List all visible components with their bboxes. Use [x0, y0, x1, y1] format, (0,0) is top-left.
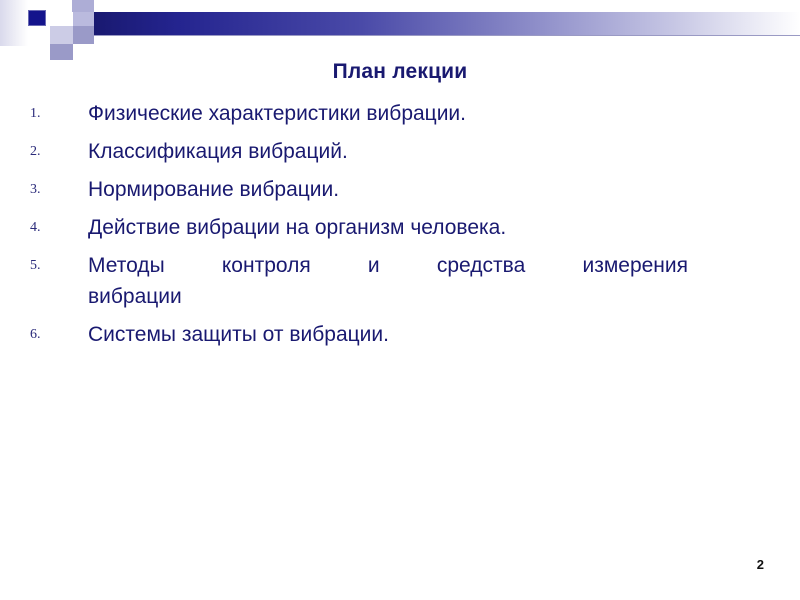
header-decoration [0, 0, 800, 60]
deco-square-pale-mid [50, 26, 73, 44]
list-item: 5. Методы контроля и средства измерения … [26, 250, 746, 312]
list-item-label: Системы защиты от вибрации. [88, 319, 746, 350]
list-item: 4. Действие вибрации на организм человек… [26, 212, 746, 243]
deco-gradient-bar [93, 12, 800, 36]
list-item-number: 1. [26, 98, 88, 129]
list-item-number: 4. [26, 212, 88, 243]
list-item-line-2: вибрации [88, 281, 688, 312]
deco-square-lavender-bottom [50, 44, 73, 60]
list-item: 2. Классификация вибраций. [26, 136, 746, 167]
list-item-number: 2. [26, 136, 88, 167]
list-item: 3. Нормирование вибрации. [26, 174, 746, 205]
deco-square-fade-block [0, 0, 28, 46]
page-number: 2 [757, 557, 764, 572]
list-item-label: Методы контроля и средства измерения виб… [88, 250, 688, 312]
list-item-number: 5. [26, 250, 88, 281]
list-item-label: Действие вибрации на организм человека. [88, 212, 746, 243]
list-item-label: Классификация вибраций. [88, 136, 746, 167]
deco-square-dark-navy [28, 10, 46, 26]
deco-square-lavender-top [72, 0, 94, 12]
list-item-number: 3. [26, 174, 88, 205]
page-title: План лекции [0, 60, 800, 84]
list-item: 1. Физические характеристики вибрации. [26, 98, 746, 129]
deco-square-lavender-mid-2 [73, 26, 94, 44]
slide: План лекции 1. Физические характеристики… [0, 0, 800, 600]
list-item-number: 6. [26, 319, 88, 350]
list-item-label: Нормирование вибрации. [88, 174, 746, 205]
list-item-line-1: Методы контроля и средства измерения [88, 250, 688, 281]
list-item-label: Физические характеристики вибрации. [88, 98, 746, 129]
lecture-plan-list: 1. Физические характеристики вибрации. 2… [26, 98, 746, 357]
list-item: 6. Системы защиты от вибрации. [26, 319, 746, 350]
